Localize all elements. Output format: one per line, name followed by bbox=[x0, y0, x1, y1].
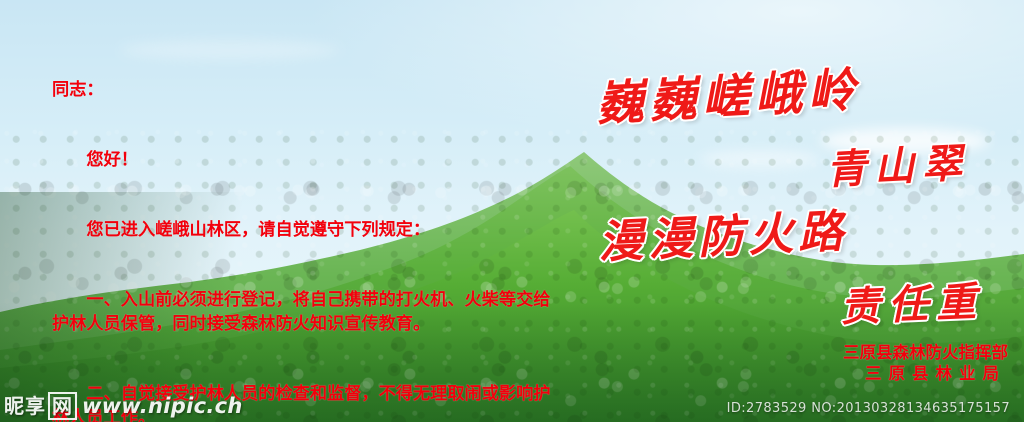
slogan-line-3: 漫漫防火路 bbox=[597, 194, 850, 270]
slogan-line-4: 责任重 bbox=[839, 269, 985, 333]
site-watermark: 昵享网 www.nipic.ch bbox=[4, 394, 243, 418]
watermark-id: ID:2783529 NO:20130328134635175157 bbox=[727, 401, 1010, 416]
slogan-line-1: 巍巍嵯峨岭 bbox=[594, 51, 862, 135]
notice-rule-1: 一、入山前必须进行登记，将自己携带的打火机、火柴等交给护林人员保管，同时接受森林… bbox=[52, 289, 552, 336]
notice-greeting: 您好！ bbox=[52, 149, 552, 172]
forest-fire-prevention-poster: 同志： 您好！ 您已进入嵯峨山林区，请自觉遵守下列规定： 一、入山前必须进行登记… bbox=[0, 0, 1024, 422]
watermark-brand: 昵享 bbox=[4, 394, 46, 418]
signature-line-1: 三原县森林防火指挥部 bbox=[843, 342, 1008, 363]
issuer-signature: 三原县森林防火指挥部 三原县林业局 bbox=[843, 342, 1008, 384]
signature-line-2: 三原县林业局 bbox=[843, 363, 1008, 384]
watermark-url: www.nipic.ch bbox=[82, 394, 243, 418]
watermark-logo: 昵享网 bbox=[4, 395, 77, 417]
notice-salutation: 同志： bbox=[52, 79, 552, 102]
watermark-brand-boxed: 网 bbox=[48, 392, 77, 420]
slogan-line-2: 青山翠 bbox=[825, 130, 972, 195]
notice-text-block: 同志： 您好！ 您已进入嵯峨山林区，请自觉遵守下列规定： 一、入山前必须进行登记… bbox=[52, 32, 552, 422]
notice-intro: 您已进入嵯峨山林区，请自觉遵守下列规定： bbox=[52, 219, 552, 242]
